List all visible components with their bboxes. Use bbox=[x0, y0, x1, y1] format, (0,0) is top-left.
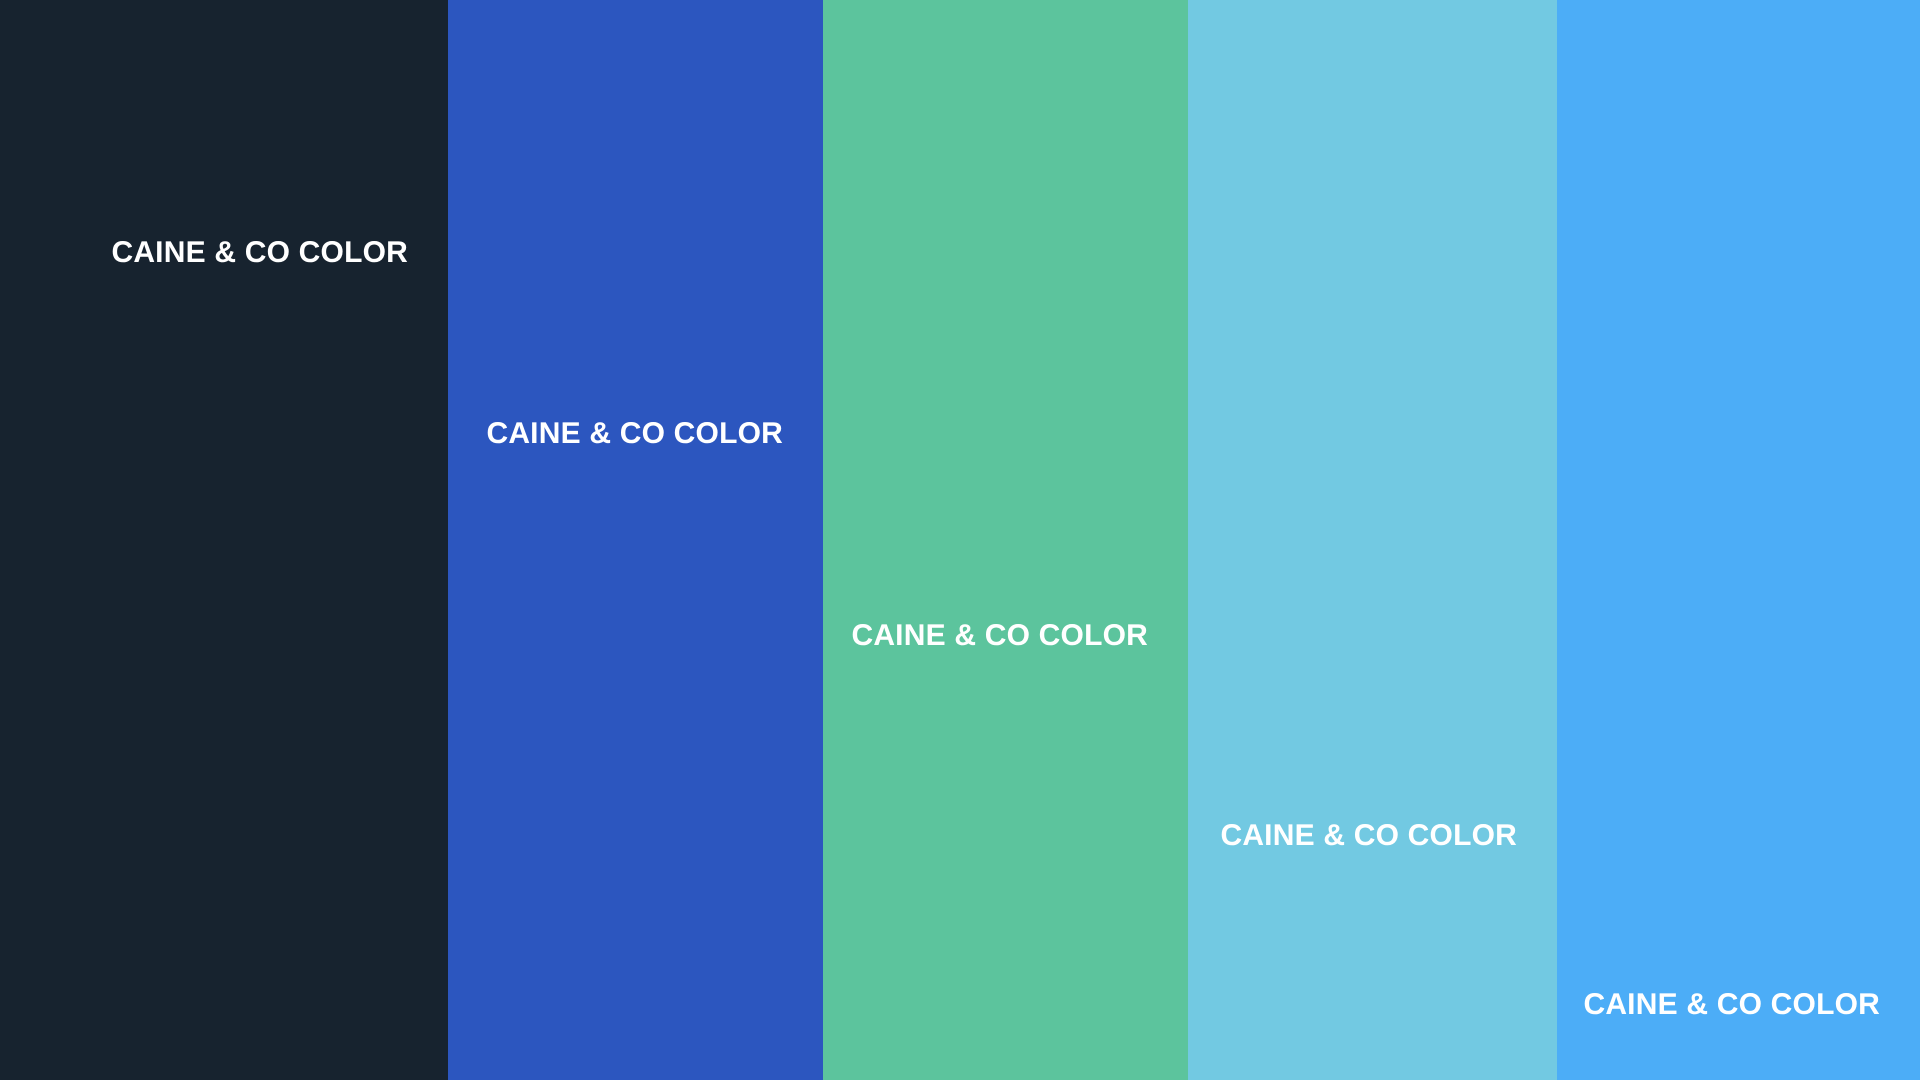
color-swatch-label: CAINE & CO COLOR bbox=[1220, 821, 1517, 851]
color-swatch[interactable]: CAINE & CO COLOR bbox=[1188, 0, 1557, 1080]
color-swatch[interactable]: CAINE & CO COLOR bbox=[823, 0, 1188, 1080]
color-swatch-label: CAINE & CO COLOR bbox=[111, 238, 408, 268]
color-palette-board: CAINE & CO COLOR CAINE & CO COLOR CAINE … bbox=[0, 0, 1920, 1080]
color-swatch-label: CAINE & CO COLOR bbox=[851, 621, 1148, 651]
color-swatch-label: CAINE & CO COLOR bbox=[486, 419, 783, 449]
color-swatch[interactable]: CAINE & CO COLOR bbox=[1557, 0, 1920, 1080]
color-swatch[interactable]: CAINE & CO COLOR bbox=[0, 0, 448, 1080]
color-swatch-label: CAINE & CO COLOR bbox=[1583, 990, 1880, 1020]
color-swatch[interactable]: CAINE & CO COLOR bbox=[448, 0, 823, 1080]
